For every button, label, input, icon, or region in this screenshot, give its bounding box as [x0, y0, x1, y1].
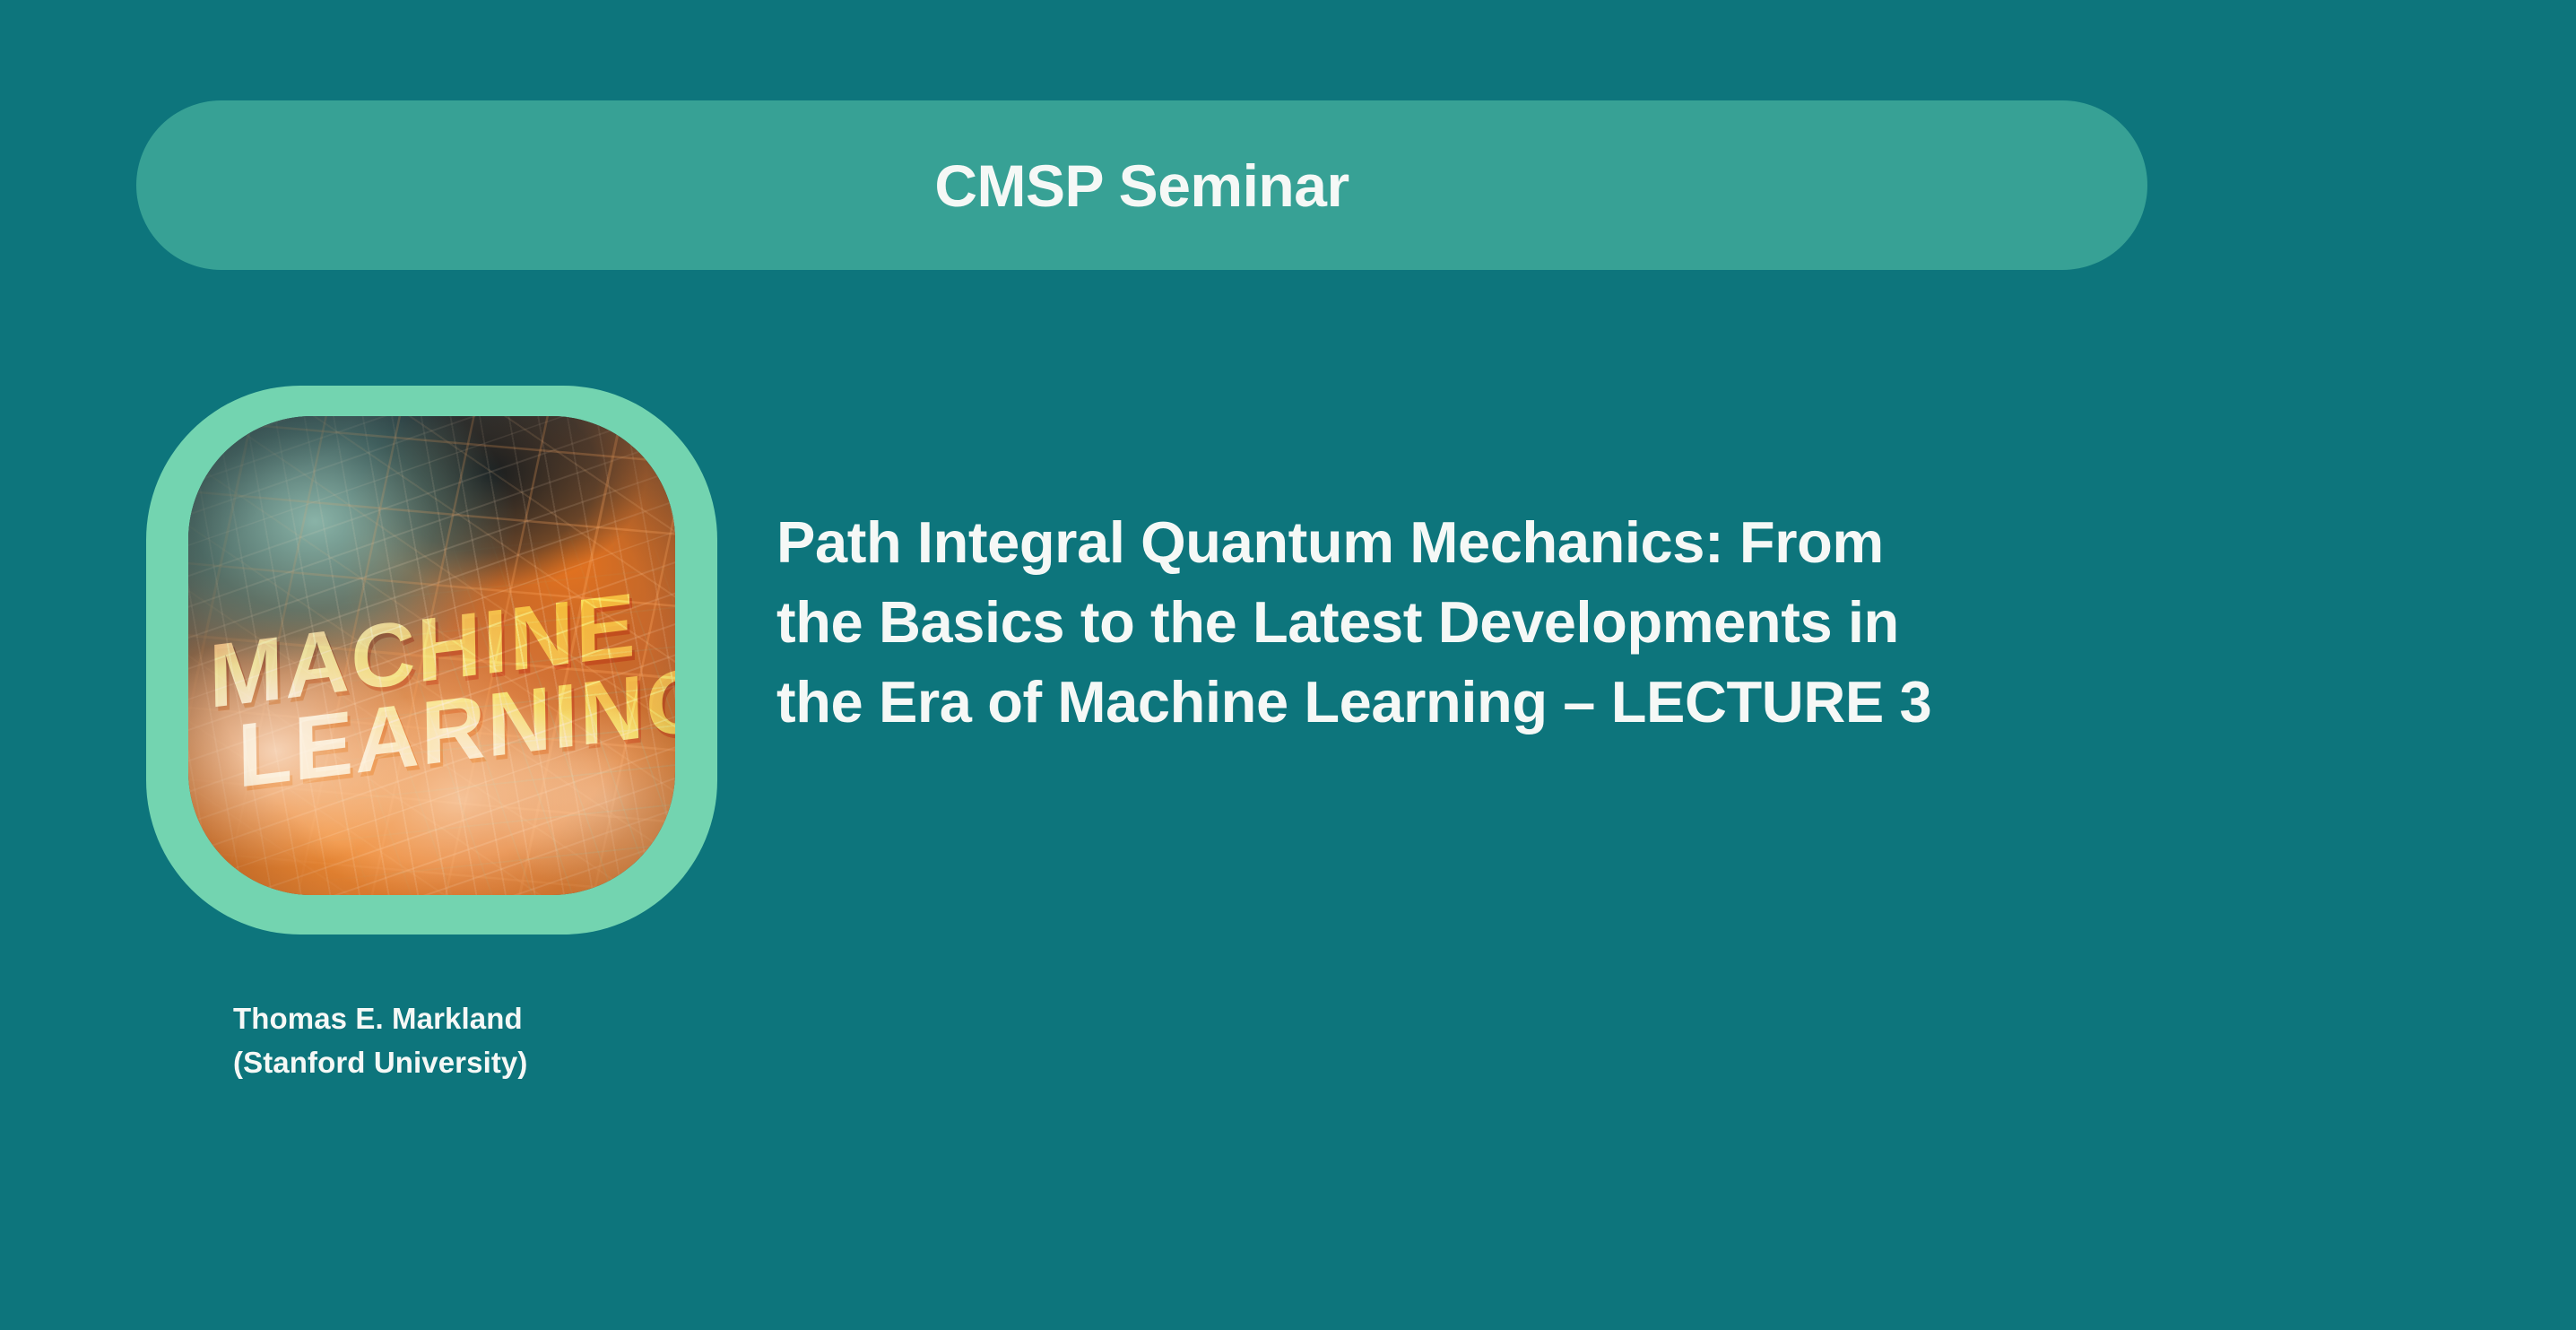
thumbnail-frame: MACHINE LEARNING: [146, 386, 717, 934]
speaker-name: Thomas E. Markland: [233, 997, 527, 1041]
thumbnail-image: MACHINE LEARNING: [188, 416, 675, 895]
banner-title: CMSP Seminar: [934, 156, 1349, 215]
talk-title-line-3: the Era of Machine Learning – LECTURE 3: [776, 662, 2390, 742]
speaker-block: Thomas E. Markland (Stanford University): [233, 997, 527, 1085]
seminar-banner-pill: CMSP Seminar: [136, 100, 2147, 270]
talk-title-line-1: Path Integral Quantum Mechanics: From: [776, 502, 2390, 582]
seminar-poster: CMSP Seminar MACHINE LEARNING Path Integ…: [0, 0, 2576, 1330]
talk-title-line-2: the Basics to the Latest Developments in: [776, 582, 2390, 662]
talk-title: Path Integral Quantum Mechanics: From th…: [776, 502, 2390, 742]
speaker-affiliation: (Stanford University): [233, 1041, 527, 1085]
artwork-vignette: [188, 416, 675, 895]
